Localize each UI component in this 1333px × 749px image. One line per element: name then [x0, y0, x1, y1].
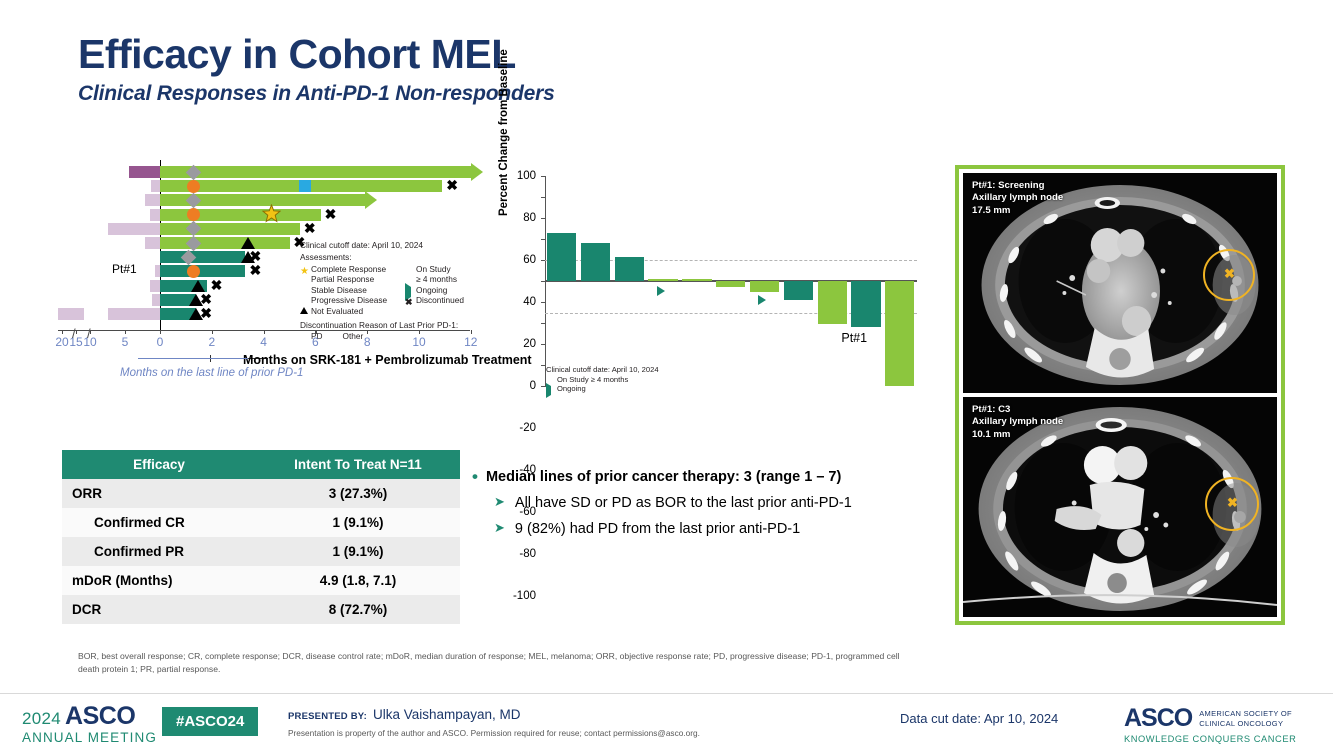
table-cell-value: 3 (27.3%): [256, 479, 460, 508]
asco-logo-wordmark: ASCO: [1124, 704, 1192, 733]
waterfall-bar: [851, 281, 880, 327]
swimmer-plot: ✖✖✖✖✖✖✖✖✖ Pt#1 Clinical cutoff date: Apr…: [50, 160, 475, 385]
swimmer-prior-bar: [145, 194, 160, 206]
swimmer-x-axis-title: Months on SRK-181 + Pembrolizumab Treatm…: [243, 353, 532, 367]
legend-item-progressive-disease: Progressive Disease: [300, 296, 400, 306]
swimmer-discontinued-x-icon: ✖: [325, 208, 337, 220]
legend-item-four-months: ≥ 4 months: [405, 275, 464, 285]
waterfall-y-tick: 40: [541, 239, 546, 240]
table-row: Confirmed CR1 (9.1%): [62, 508, 460, 537]
legend-item-discontinued: ✖ Discontinued: [405, 296, 464, 306]
ct-caption-c3: Pt#1: C3 Axillary lymph node 10.1 mm: [972, 404, 1063, 441]
bullet-sub-2: ➤ 9 (82%) had PD from the last prior ant…: [494, 520, 952, 539]
swimmer-axis-tick: [160, 330, 161, 334]
swimmer-axis-tick-label: 20: [55, 335, 68, 349]
swimmer-treatment-bar: [160, 209, 321, 221]
swimmer-prior-bar: [152, 294, 160, 306]
waterfall-y-tick-label: -80: [519, 548, 536, 560]
waterfall-y-tick: -20: [541, 302, 546, 303]
swimmer-marker-progressive-disease: [191, 280, 205, 292]
table-cell-value: 4.9 (1.8, 7.1): [256, 566, 460, 595]
swimmer-axis-tick-label: 0: [157, 335, 164, 349]
table-row: DCR8 (72.7%): [62, 595, 460, 624]
swimmer-legend-cutoff: Clinical cutoff date: April 10, 2024: [300, 240, 478, 252]
swimmer-plot-area: ✖✖✖✖✖✖✖✖✖ Pt#1 Clinical cutoff date: Apr…: [50, 160, 475, 330]
ct-annotation-x-2: ✖: [1227, 495, 1238, 511]
ct-image-screening: Pt#1: Screening Axillary lymph node 17.5…: [963, 173, 1277, 393]
asco-logo-subtitle: AMERICAN SOCIETY OF CLINICAL ONCOLOGY: [1199, 709, 1292, 729]
swimmer-discontinued-x-icon: ✖: [446, 179, 458, 191]
waterfall-legend: Clinical cutoff date: April 10, 2024 On …: [546, 364, 659, 393]
square-icon: [300, 308, 308, 316]
swimmer-x-axis: 2015105024681012 / / Months on SRK-181 +…: [50, 330, 475, 385]
data-cut-date: Data cut date: Apr 10, 2024: [900, 711, 1058, 726]
swimmer-treatment-bar: [160, 251, 245, 263]
swimmer-axis-tick-label: 4: [260, 335, 267, 349]
swimmer-prior-bar-segment: [58, 308, 84, 320]
swimmer-discontinued-x-icon: ✖: [304, 222, 316, 234]
star-icon: ★: [300, 266, 308, 274]
swimmer-axis-tick: [315, 330, 316, 334]
waterfall-bar: [615, 257, 644, 281]
swimmer-axis-tick-label: 2: [208, 335, 215, 349]
legend-item-ongoing: Ongoing: [405, 286, 464, 296]
table-header-itt: Intent To Treat N=11: [256, 450, 460, 479]
swimmer-prior-axis-label: Months on the last line of prior PD-1: [120, 366, 303, 380]
swimmer-axis-tick: [419, 330, 420, 334]
swimmer-axis-tick-label: 6: [312, 335, 319, 349]
swimmer-treatment-bar: [160, 223, 300, 235]
triangle-right-icon: [546, 385, 554, 393]
waterfall-bar: [581, 243, 610, 281]
swimmer-axis-tick-label: 12: [464, 335, 477, 349]
swimmer-treatment-bar: [160, 166, 471, 178]
diamond-icon: [300, 287, 308, 295]
waterfall-bar: [682, 279, 711, 281]
waterfall-legend-item-ongoing: Ongoing: [546, 384, 659, 393]
waterfall-bar: [885, 281, 914, 386]
waterfall-y-tick-label: 0: [530, 380, 536, 392]
swimmer-axis-tick: [264, 330, 265, 334]
waterfall-y-tick-label: -20: [519, 422, 536, 434]
swimmer-axis-tick: [471, 330, 472, 334]
footnote-abbreviations: BOR, best overall response; CR, complete…: [78, 650, 908, 677]
waterfall-chart: Percent Change from Baseline 10080604020…: [500, 168, 920, 413]
swimmer-prior-bar: [151, 180, 160, 192]
table-body: ORR3 (27.3%)Confirmed CR1 (9.1%)Confirme…: [62, 479, 460, 624]
asco-society-logo: ASCO AMERICAN SOCIETY OF CLINICAL ONCOLO…: [1124, 704, 1296, 744]
slide-footer: 2024 ASCO ANNUAL MEETING #ASCO24 PRESENT…: [0, 693, 1333, 749]
asco-year-text: 2024: [22, 709, 61, 729]
swimmer-prior-bar: [108, 308, 160, 320]
ct-image-c3: Pt#1: C3 Axillary lymph node 10.1 mm ✖: [963, 397, 1277, 617]
swimmer-axis-tick: [367, 330, 368, 334]
table-row: Confirmed PR1 (9.1%): [62, 537, 460, 566]
swimmer-legend: Clinical cutoff date: April 10, 2024 Ass…: [300, 240, 478, 342]
page-subtitle: Clinical Responses in Anti-PD-1 Non-resp…: [78, 82, 555, 106]
permission-notice: Presentation is property of the author a…: [288, 728, 700, 738]
swimmer-ongoing-arrow-icon: [365, 191, 377, 209]
swimmer-marker-progressive-disease: [241, 237, 255, 249]
asco-wordmark: ASCO: [65, 702, 135, 731]
table-row: mDoR (Months)4.9 (1.8, 7.1): [62, 566, 460, 595]
table-cell-label: Confirmed CR: [62, 508, 256, 537]
legend-item-partial-response: Partial Response: [300, 275, 400, 285]
table-cell-value: 1 (9.1%): [256, 537, 460, 566]
swimmer-discontinued-x-icon: ✖: [211, 279, 223, 291]
waterfall-y-tick-label: 60: [523, 254, 536, 266]
asco-annual-meeting-text: ANNUAL MEETING: [22, 730, 157, 745]
presented-by: PRESENTED BY: Ulka Vaishampayan, MD: [288, 707, 521, 722]
legend-item-stable-disease: Stable Disease: [300, 286, 400, 296]
triangle-right-icon: [405, 287, 413, 295]
waterfall-y-tick-label: -100: [513, 590, 536, 602]
circle-icon: [300, 276, 308, 284]
swimmer-prior-bar: [145, 237, 160, 249]
triangle-up-icon: [300, 297, 308, 305]
waterfall-y-tick: -40: [541, 323, 546, 324]
square-green-icon: [405, 266, 413, 274]
table-header-row: Efficacy Intent To Treat N=11: [62, 450, 460, 479]
asco-logo-year-row: 2024 ASCO: [22, 702, 157, 731]
swimmer-prior-arrow: [138, 358, 248, 359]
waterfall-bar: [784, 281, 813, 300]
swimmer-treatment-bar: [160, 265, 245, 277]
asco-logo-tagline: KNOWLEDGE CONQUERS CANCER: [1124, 734, 1296, 744]
swimmer-patient-label: Pt#1: [112, 262, 137, 276]
swimmer-marker-progressive-disease: [189, 294, 203, 306]
table-cell-label: mDoR (Months): [62, 566, 256, 595]
swimmer-axis-tick-label: 8: [364, 335, 371, 349]
bullet-sub-1: ➤ All have SD or PD as BOR to the last p…: [494, 494, 952, 513]
swimmer-axis-tick: [125, 330, 126, 334]
waterfall-ongoing-arrow-icon: [758, 295, 766, 305]
table-cell-label: ORR: [62, 479, 256, 508]
axis-break-icon-2: /: [87, 326, 91, 341]
axis-break-icon: /: [72, 326, 76, 341]
ct-caption-screening: Pt#1: Screening Axillary lymph node 17.5…: [972, 180, 1063, 217]
waterfall-bar: [716, 281, 745, 287]
table-row: ORR3 (27.3%): [62, 479, 460, 508]
waterfall-y-axis-label: Percent Change from Baseline: [498, 49, 510, 216]
arrow-right-icon-2: ➤: [494, 520, 505, 539]
waterfall-y-tick-label: 40: [523, 296, 536, 308]
waterfall-y-tick-label: 100: [517, 170, 536, 182]
swimmer-prior-bar: [150, 209, 160, 221]
waterfall-patient-label: Pt#1: [841, 331, 867, 345]
swimmer-axis-tick: [76, 330, 77, 334]
waterfall-bar: [750, 281, 779, 292]
title-block: Efficacy in Cohort MEL Clinical Response…: [78, 34, 555, 106]
waterfall-y-tick-label: 20: [523, 338, 536, 350]
swimmer-discontinued-x-icon: ✖: [249, 264, 261, 276]
swimmer-ongoing-arrow-icon: [471, 163, 483, 181]
x-icon: ✖: [405, 297, 413, 305]
swimmer-legend-assessments-header: Assessments:: [300, 252, 478, 264]
ct-annotation-x-1: ✖: [1224, 266, 1235, 282]
swimmer-marker-progressive-disease: [241, 251, 255, 263]
swimmer-marker-not-evaluated: [299, 180, 311, 192]
table-cell-value: 1 (9.1%): [256, 508, 460, 537]
swimmer-axis-tick-label: 10: [412, 335, 425, 349]
table-header-efficacy: Efficacy: [62, 450, 256, 479]
swimmer-marker-progressive-disease: [189, 308, 203, 320]
swimmer-prior-bar: [150, 280, 160, 292]
waterfall-bar: [818, 281, 847, 324]
swimmer-marker-partial-response: [187, 180, 200, 193]
swimmer-axis-tick: [62, 330, 63, 334]
swimmer-treatment-bar: [160, 237, 290, 249]
asco-annual-meeting-logo: 2024 ASCO ANNUAL MEETING: [22, 702, 157, 745]
waterfall-y-tick-label: 80: [523, 212, 536, 224]
table-cell-label: DCR: [62, 595, 256, 624]
waterfall-y-tick: 100: [541, 176, 546, 177]
waterfall-plot-area: 100806040200-20-40-60-80-100 Pt#1: [545, 176, 917, 386]
efficacy-table: Efficacy Intent To Treat N=11 ORR3 (27.3…: [62, 450, 460, 624]
bullet-primary: • Median lines of prior cancer therapy: …: [472, 468, 952, 487]
waterfall-ongoing-arrow-icon: [657, 286, 665, 296]
legend-item-not-evaluated: Not Evaluated: [300, 307, 400, 317]
waterfall-y-tick: 80: [541, 197, 546, 198]
legend-item-complete-response: ★ Complete Response: [300, 265, 400, 275]
swimmer-axis-tick: [212, 330, 213, 334]
table-cell-value: 8 (72.7%): [256, 595, 460, 624]
swimmer-prior-bar: [108, 223, 160, 235]
table-cell-label: Confirmed PR: [62, 537, 256, 566]
presenter-name: Ulka Vaishampayan, MD: [373, 707, 521, 722]
legend-item-on-study: On Study: [405, 265, 464, 275]
swimmer-marker-partial-response: [187, 265, 200, 278]
waterfall-bar: [648, 279, 677, 281]
hashtag-badge: #ASCO24: [162, 707, 258, 736]
waterfall-bar: [547, 233, 576, 281]
page-title: Efficacy in Cohort MEL: [78, 34, 555, 75]
waterfall-y-tick: 60: [541, 218, 546, 219]
waterfall-y-tick: -60: [541, 344, 546, 345]
swimmer-prior-bar: [129, 166, 160, 178]
bullet-list: • Median lines of prior cancer therapy: …: [472, 468, 952, 539]
presented-by-label: PRESENTED BY:: [288, 711, 367, 722]
swimmer-axis-tick-label: 5: [122, 335, 129, 349]
arrow-right-icon: ➤: [494, 494, 505, 513]
bullet-dot-icon: •: [472, 468, 478, 487]
ct-image-panel: Pt#1: Screening Axillary lymph node 17.5…: [955, 165, 1285, 625]
